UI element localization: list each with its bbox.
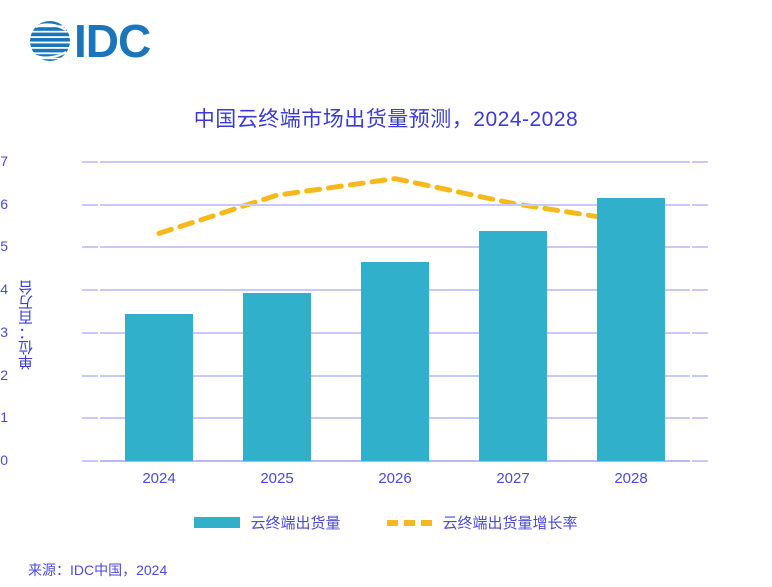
x-axis-tick-label-2026: 2026: [335, 470, 455, 487]
gridline: [100, 161, 690, 163]
legend-dashed-line-swatch-icon: [387, 520, 433, 526]
y-axis-tick-mark: [82, 417, 98, 419]
y-axis-tick-label: 6: [0, 196, 8, 212]
legend-label-shipments: 云终端出货量: [250, 512, 340, 533]
bar-2026[interactable]: [361, 262, 429, 461]
chart-legend: 云终端出货量 云终端出货量增长率: [0, 512, 772, 533]
y-axis-tick-mark: [82, 246, 98, 248]
y2-axis-tick-mark: [692, 289, 708, 291]
y-axis-tick-mark: [82, 289, 98, 291]
y-axis-tick-mark: [82, 332, 98, 334]
y2-axis-tick-mark: [692, 417, 708, 419]
legend-bar-swatch-icon: [194, 517, 240, 528]
y-axis-tick-label: 7: [0, 153, 8, 169]
y-axis-tick-label: 2: [0, 367, 8, 383]
y2-axis-tick-mark: [692, 375, 708, 377]
x-axis-tick-label-2027: 2027: [453, 470, 573, 487]
y-axis-tick-label: 1: [0, 409, 8, 425]
y-axis-tick-mark: [82, 375, 98, 377]
legend-item-growth-rate[interactable]: 云终端出货量增长率: [387, 512, 578, 533]
x-axis-tick-label-2025: 2025: [217, 470, 337, 487]
legend-label-growth-rate: 云终端出货量增长率: [443, 512, 578, 533]
bar-2025[interactable]: [243, 293, 311, 461]
bar-2028[interactable]: [597, 198, 665, 461]
source-note: 来源：IDC中国，2024: [28, 560, 167, 580]
x-axis-tick-label-2028: 2028: [571, 470, 691, 487]
y2-axis-tick-mark: [692, 161, 708, 163]
y2-axis-tick-mark: [692, 204, 708, 206]
chart-canvas: 单位：百万台 7654321018%16%14%12%10%8%6%4%2%0%…: [0, 0, 772, 587]
y-axis-tick-label: 5: [0, 238, 8, 254]
y-axis-tick-label: 0: [0, 452, 8, 468]
y2-axis-tick-mark: [692, 460, 708, 462]
y-axis-tick-label: 4: [0, 281, 8, 297]
y-axis-tick-label: 3: [0, 324, 8, 340]
bar-2024[interactable]: [125, 314, 193, 461]
y2-axis-tick-mark: [692, 246, 708, 248]
y-axis-tick-mark: [82, 161, 98, 163]
plot-area: 7654321018%16%14%12%10%8%6%4%2%0%: [100, 162, 690, 461]
y-axis-tick-mark: [82, 460, 98, 462]
legend-item-shipments[interactable]: 云终端出货量: [194, 512, 340, 533]
y-axis-tick-mark: [82, 204, 98, 206]
bar-2027[interactable]: [479, 231, 547, 461]
y2-axis-tick-mark: [692, 332, 708, 334]
y-axis-title: 单位：百万台: [16, 280, 37, 370]
x-axis-tick-label-2024: 2024: [99, 470, 219, 487]
